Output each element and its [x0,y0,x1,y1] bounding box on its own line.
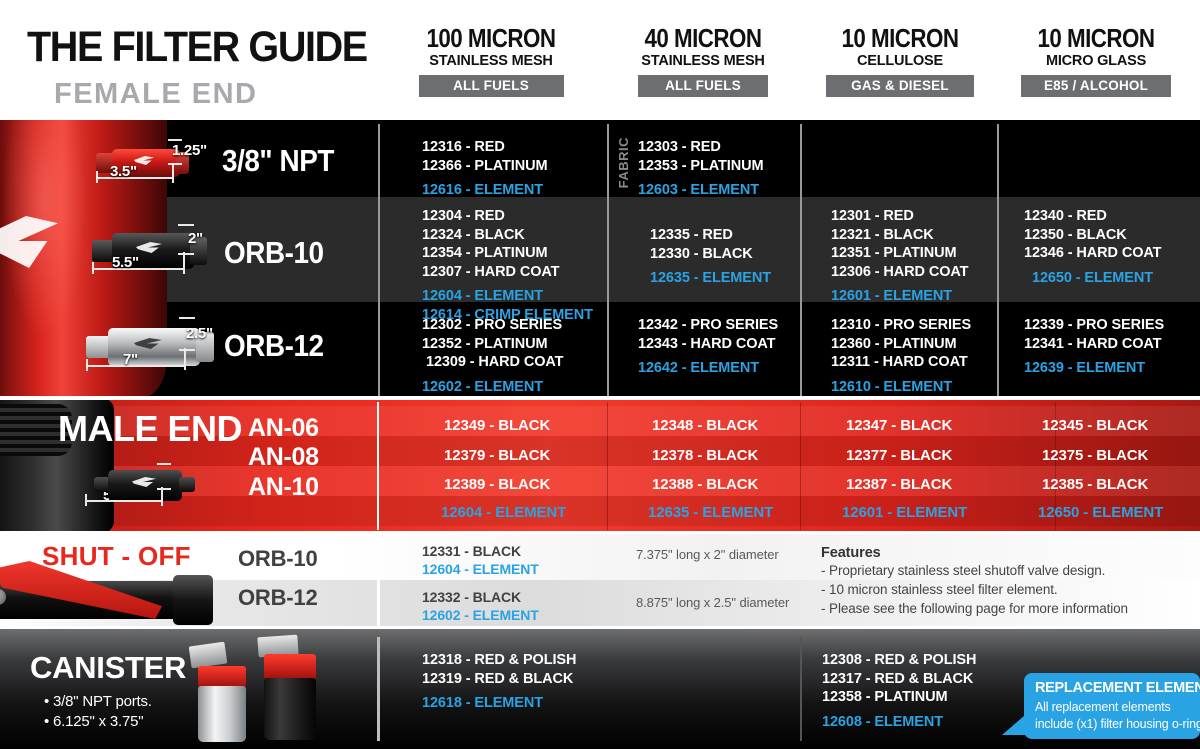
fabric-label: FABRIC [616,137,631,188]
canister-bullet-ports: • 3/8" NPT ports. [44,691,152,712]
part-number: 12302 - PRO SERIES [422,316,563,335]
callout-line-1: All replacement elements [1035,700,1171,714]
column-media-label: MICRO GLASS [1003,53,1189,69]
part-cell: 12349 - BLACK [444,417,550,435]
size-label-npt: 3/8" NPT [222,143,334,179]
part-cell: 12347 - BLACK [846,417,952,435]
features-title: Features [821,545,1128,561]
part-cell: 12601 - ELEMENT [842,504,967,522]
section-separator [0,626,1200,629]
column-fuel-badge: E85 / ALCOHOL [1021,75,1171,97]
part-number-element: 12610 - ELEMENT [831,378,971,397]
part-number: 12304 - RED [422,207,593,226]
part-cell: 12335 - RED 12330 - BLACK 12635 - ELEMEN… [650,226,771,288]
page-header: THE FILTER GUIDE FEMALE END 100 MICRON S… [0,0,1200,120]
part-number: 12354 - PLATINUM [422,244,593,263]
column-media-label: STAINLESS MESH [398,53,584,69]
shut-off-title: SHUT - OFF [42,541,191,572]
part-number-element: 12604 - ELEMENT [422,287,593,306]
dimension-note-orb10: 7.375" long x 2" diameter [636,547,779,562]
column-fuel-badge: ALL FUELS [638,75,768,97]
part-cell: 12379 - BLACK [444,447,550,465]
size-label-an08: AN-08 [248,443,319,472]
part-cell: 12377 - BLACK [846,447,952,465]
part-number-element: 12616 - ELEMENT [422,181,547,200]
part-cell: 12340 - RED 12350 - BLACK 12346 - HARD C… [1024,207,1161,287]
column-header-10-micron-cellulose: 10 MICRON CELLULOSE GAS & DIESEL [807,24,993,97]
part-number: 12379 - BLACK [444,447,550,464]
size-label-an06: AN-06 [248,414,319,443]
dim-diameter-orb12: 2.5" [186,325,213,342]
canister-bullet-size: • 6.125" x 3.75" [44,711,143,732]
part-number: 12319 - RED & BLACK [422,670,576,689]
part-number-element: 12601 - ELEMENT [842,504,967,521]
section-separator [0,531,1200,534]
part-cell: 12385 - BLACK [1042,476,1148,494]
part-cell: 12308 - RED & POLISH 12317 - RED & BLACK… [822,651,976,731]
part-number: 12339 - PRO SERIES [1024,316,1164,335]
filter-guide-page: THE FILTER GUIDE FEMALE END 100 MICRON S… [0,0,1200,749]
part-number: 12353 - PLATINUM [638,157,763,176]
part-cell: 12387 - BLACK [846,476,952,494]
part-number: 12351 - PLATINUM [831,244,968,263]
column-divider [800,124,802,396]
part-cell: 12604 - ELEMENT [441,504,566,522]
column-divider [800,637,802,741]
page-subtitle: FEMALE END [54,78,258,111]
part-number: 12349 - BLACK [444,417,550,434]
column-divider [997,124,999,396]
part-number: 12335 - RED [650,226,771,245]
part-number: 12331 - BLACK [422,542,539,560]
feature-item: - Proprietary stainless steel shutoff va… [821,561,1128,580]
part-cell: 12339 - PRO SERIES 12341 - HARD COAT 126… [1024,316,1164,378]
canister-photo-polish [196,644,260,740]
part-number: 12378 - BLACK [652,447,758,464]
column-header-10-micron-microglass: 10 MICRON MICRO GLASS E85 / ALCOHOL [1003,24,1189,97]
part-number: 12360 - PLATINUM [831,335,971,354]
part-cell: 12345 - BLACK [1042,417,1148,435]
part-number: 12324 - BLACK [422,226,593,245]
part-cell: 12388 - BLACK [652,476,758,494]
part-number-element: 12642 - ELEMENT [638,359,778,378]
canister-title: CANISTER [30,650,186,686]
column-divider [377,637,380,741]
dim-length-orb12: 7" [123,351,138,368]
part-number: 12347 - BLACK [846,417,952,434]
part-cell: 12318 - RED & POLISH 12319 - RED & BLACK… [422,651,576,713]
column-divider [607,402,608,530]
part-cell: 12332 - BLACK 12602 - ELEMENT [422,588,539,624]
part-number: 12330 - BLACK [650,245,771,264]
part-number: 12332 - BLACK [422,588,539,606]
part-number-element: 12618 - ELEMENT [422,694,576,713]
part-cell: 12650 - ELEMENT [1038,504,1163,522]
part-cell: 12342 - PRO SERIES 12343 - HARD COAT 126… [638,316,778,378]
part-number: 12307 - HARD COAT [422,263,593,282]
part-number: 12341 - HARD COAT [1024,335,1164,354]
replacement-elements-callout: REPLACEMENT ELEMENTS All replacement ele… [1024,673,1200,739]
part-number: 12350 - BLACK [1024,226,1161,245]
part-cell: 12389 - BLACK [444,476,550,494]
part-cell: 12302 - PRO SERIES 12352 - PLATINUM 1230… [422,316,563,396]
column-divider [607,124,609,396]
part-number: 12377 - BLACK [846,447,952,464]
part-number: 12308 - RED & POLISH [822,651,976,670]
column-media-label: CELLULOSE [807,53,993,69]
part-cell: 12310 - PRO SERIES 12360 - PLATINUM 1231… [831,316,971,396]
part-number: 12316 - RED [422,138,547,157]
feature-item: - Please see the following page for more… [821,599,1128,618]
part-number: 12375 - BLACK [1042,447,1148,464]
part-number-element: 12601 - ELEMENT [831,287,968,306]
part-number: 12389 - BLACK [444,476,550,493]
part-number-element: 12608 - ELEMENT [822,713,976,732]
size-label-shutoff-orb10: ORB-10 [238,546,318,572]
part-cell: 12303 - RED 12353 - PLATINUM 12603 - ELE… [638,138,763,200]
part-cell: 12378 - BLACK [652,447,758,465]
dim-diameter-orb10: 2" [188,230,203,247]
part-number: 12387 - BLACK [846,476,952,493]
column-divider [377,402,379,530]
part-number: 12340 - RED [1024,207,1161,226]
part-number: 12385 - BLACK [1042,476,1148,493]
section-separator [0,118,1200,120]
part-number: 12303 - RED [638,138,763,157]
features-block: Features - Proprietary stainless steel s… [821,545,1128,618]
part-number: 12321 - BLACK [831,226,968,245]
canister-photo-black [262,636,332,740]
callout-title: REPLACEMENT ELEMENTS [1035,680,1200,696]
part-number: 12317 - RED & BLACK [822,670,976,689]
part-number: 12358 - PLATINUM [822,688,976,707]
part-number-element: 12639 - ELEMENT [1024,359,1164,378]
part-number: 12318 - RED & POLISH [422,651,576,670]
size-label-orb12: ORB-12 [224,328,324,364]
part-number: 12310 - PRO SERIES [831,316,971,335]
column-divider [377,535,380,627]
part-cell: 12301 - RED 12321 - BLACK 12351 - PLATIN… [831,207,968,306]
part-number: 12388 - BLACK [652,476,758,493]
part-cell: 12635 - ELEMENT [648,504,773,522]
column-divider [800,402,801,530]
part-number: 12352 - PLATINUM [422,335,563,354]
part-number: 12346 - HARD COAT [1024,244,1161,263]
column-micron-label: 40 MICRON [623,24,783,52]
part-number: 12343 - HARD COAT [638,335,778,354]
part-cell: 12331 - BLACK 12604 - ELEMENT [422,542,539,578]
column-micron-label: 10 MICRON [820,24,980,52]
male-end-title: MALE END [58,408,242,450]
part-number-element: 12635 - ELEMENT [648,504,773,521]
part-number-element: 12604 - ELEMENT [441,504,566,521]
part-number-element: 12602 - ELEMENT [422,378,563,397]
part-number: 12311 - HARD COAT [831,353,971,372]
part-number: 12348 - BLACK [652,417,758,434]
column-media-label: STAINLESS MESH [610,53,796,69]
part-number-element: 12650 - ELEMENT [1032,269,1161,288]
size-label-orb10: ORB-10 [224,235,324,271]
dim-length-orb10: 5.5" [112,254,139,271]
column-divider [378,124,380,396]
column-header-100-micron: 100 MICRON STAINLESS MESH ALL FUELS [398,24,584,97]
dimension-note-orb12: 8.875" long x 2.5" diameter [636,595,789,610]
section-separator [0,396,1200,400]
part-number: 12301 - RED [831,207,968,226]
part-number: 12309 - HARD COAT [426,353,563,372]
part-number-element: 12604 - ELEMENT [422,560,539,578]
column-fuel-badge: ALL FUELS [419,75,564,97]
part-number-element: 12635 - ELEMENT [650,269,771,288]
size-label-shutoff-orb12: ORB-12 [238,585,318,611]
dim-diameter-npt: 1.25" [172,142,207,159]
part-cell: 12375 - BLACK [1042,447,1148,465]
dim-length-npt: 3.5" [110,163,137,180]
feature-item: - 10 micron stainless steel filter eleme… [821,580,1128,599]
column-fuel-badge: GAS & DIESEL [826,75,974,97]
column-header-40-micron: 40 MICRON STAINLESS MESH ALL FUELS [610,24,796,97]
callout-line-2: include (x1) filter housing o-ring [1035,717,1200,731]
aeromotive-logo-icon [0,216,58,268]
part-cell: 12348 - BLACK [652,417,758,435]
part-number: 12306 - HARD COAT [831,263,968,282]
part-number: 12366 - PLATINUM [422,157,547,176]
part-cell: 12316 - RED 12366 - PLATINUM 12616 - ELE… [422,138,547,200]
column-micron-label: 10 MICRON [1016,24,1176,52]
part-number-element: 12650 - ELEMENT [1038,504,1163,521]
part-number: 12345 - BLACK [1042,417,1148,434]
shut-off-valve-photo [0,573,236,625]
part-number-element: 12602 - ELEMENT [422,606,539,624]
size-label-an10: AN-10 [248,473,319,502]
page-title: THE FILTER GUIDE [27,23,367,72]
part-cell: 12304 - RED 12324 - BLACK 12354 - PLATIN… [422,207,593,324]
part-number: 12342 - PRO SERIES [638,316,778,335]
column-micron-label: 100 MICRON [411,24,571,52]
part-number-element: 12603 - ELEMENT [638,181,763,200]
